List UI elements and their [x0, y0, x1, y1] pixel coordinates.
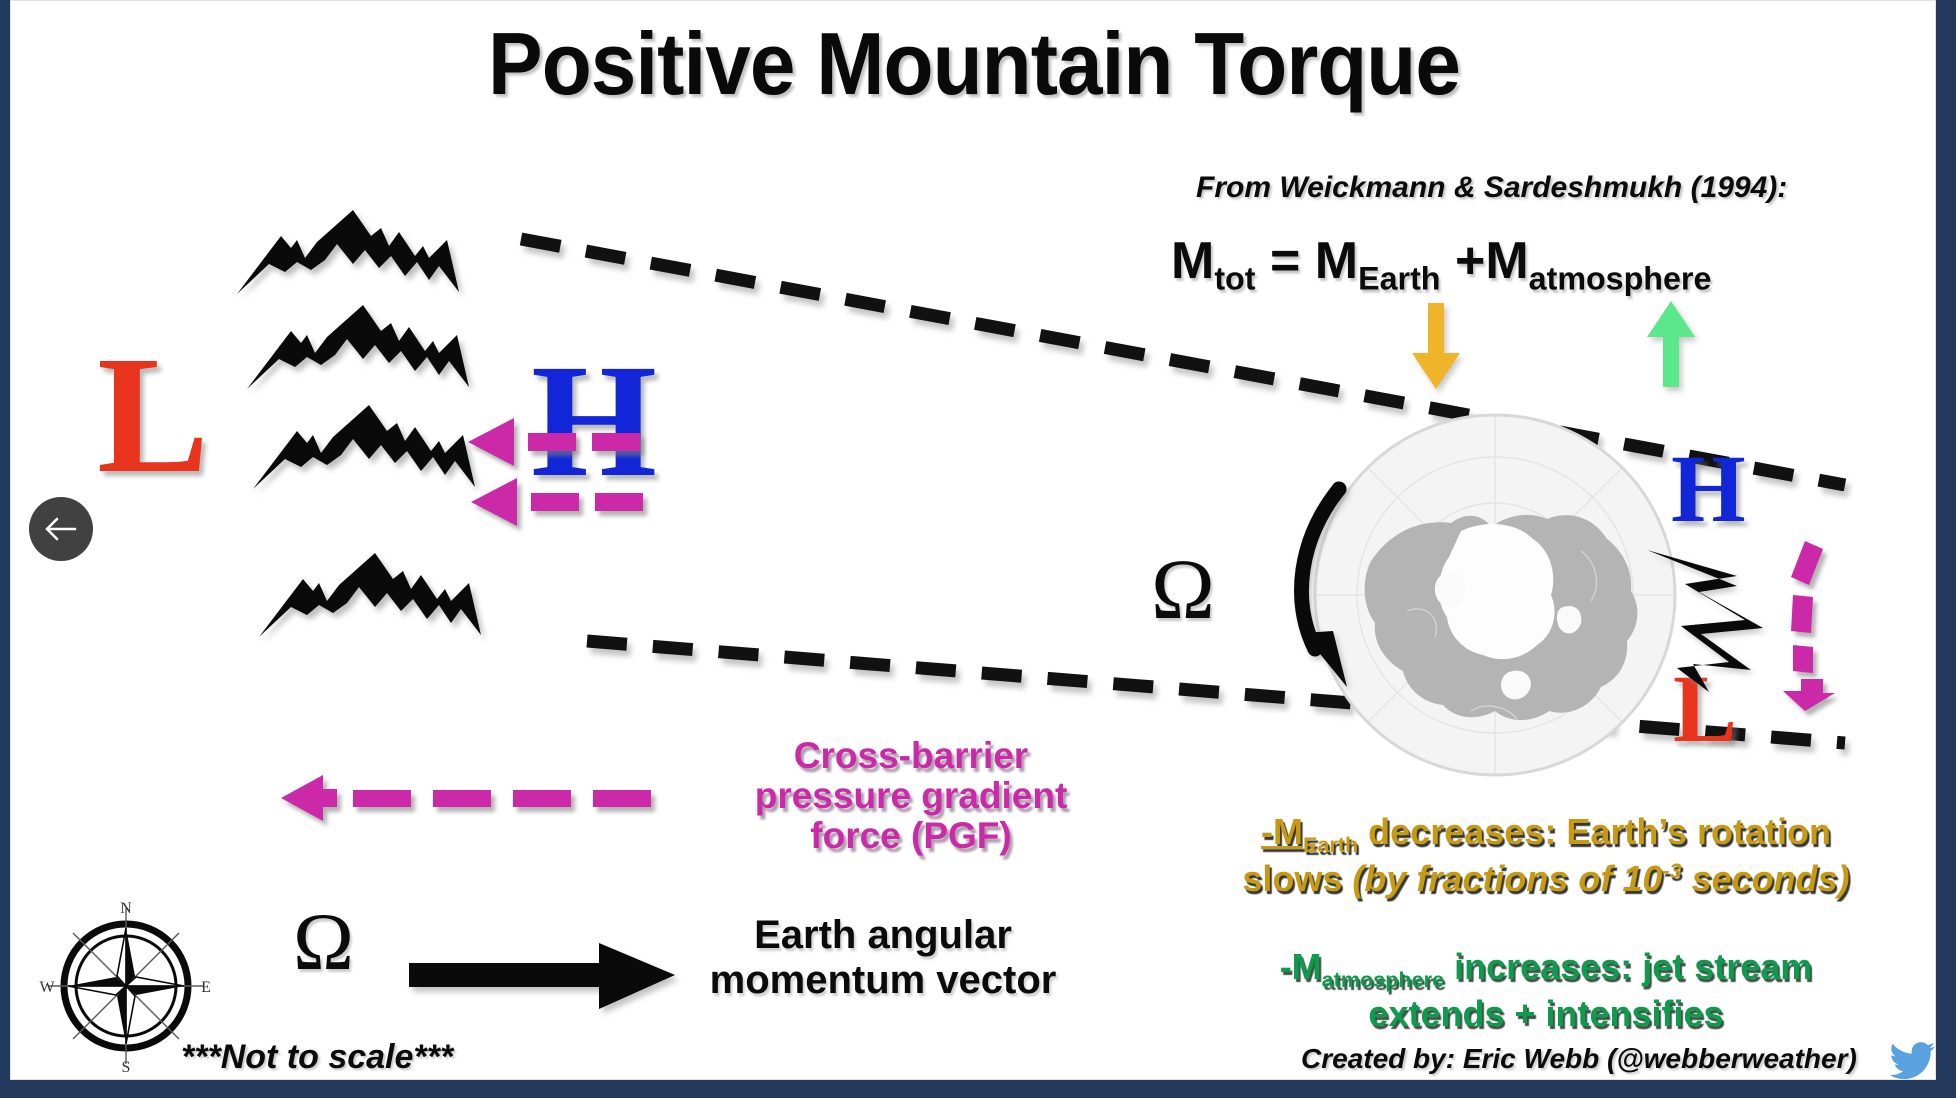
earth-note-exponent: -3 — [1662, 858, 1681, 883]
earth-note-term-sub: Earth — [1303, 832, 1358, 857]
pgf-arrow-small-lower — [469, 473, 649, 531]
atmos-note-line2: extends + intensifies — [1166, 993, 1926, 1034]
slide-canvas: Positive Mountain Torque L H H L — [10, 0, 1936, 1080]
atmos-note-line1: -Matmosphere increases: jet stream — [1166, 946, 1926, 993]
mountain-range-1 — [233, 206, 463, 296]
atmos-note-rest: increases: jet stream — [1444, 946, 1812, 987]
low-pressure-label-left: L — [97, 331, 209, 499]
not-to-scale-note: ***Not to scale*** — [181, 1038, 453, 1077]
atmosphere-momentum-note: -Matmosphere increases: jet stream exten… — [1166, 946, 1926, 1034]
mountain-range-3 — [249, 401, 479, 491]
arrow-down-earth-term — [1406, 301, 1466, 391]
angular-momentum-vector-arrow — [409, 939, 679, 1013]
citation-text: From Weickmann & Sardeshmukh (1994): — [1196, 171, 1787, 205]
page-title: Positive Mountain Torque — [78, 13, 1869, 115]
compass-label-north: N — [120, 900, 132, 917]
mountain-range-2 — [243, 301, 473, 391]
mountain-range-4 — [255, 549, 485, 639]
formula-mtot: M — [1171, 232, 1214, 290]
earth-note-paren-b: seconds) — [1682, 858, 1850, 899]
earth-note-slows: slows — [1242, 858, 1352, 899]
pgf-label: Cross-barrier pressure gradient force (P… — [701, 736, 1121, 856]
compass-label-west: W — [39, 979, 55, 996]
pgf-label-line1: Cross-barrier — [701, 736, 1121, 776]
formula-matmos: M — [1485, 232, 1528, 290]
angular-momentum-vector-label: Earth angular momentum vector — [683, 913, 1083, 1003]
omega-symbol-vector: Ω — [293, 901, 354, 983]
back-button[interactable] — [29, 497, 93, 561]
formula-plus: + — [1441, 232, 1486, 290]
formula-mearth: M — [1315, 232, 1358, 290]
earth-note-term: -M — [1261, 811, 1303, 852]
rotation-curved-arrow — [1281, 481, 1391, 696]
compass-label-east: E — [201, 979, 211, 996]
vector-label-line1: Earth angular — [683, 913, 1083, 958]
earth-note-paren-a: (by fractions of 10 — [1352, 858, 1662, 899]
formula-equals: = — [1256, 232, 1315, 290]
pgf-label-line3: force (PGF) — [701, 816, 1121, 856]
high-pressure-label-right: H — [1671, 441, 1746, 537]
earth-note-line2: slows (by fractions of 10-3 seconds) — [1166, 858, 1926, 899]
earth-note-rest: decreases: Earth’s rotation — [1358, 811, 1831, 852]
atmos-note-term-sub: atmosphere — [1322, 967, 1444, 992]
arrow-up-atmosphere-term — [1641, 299, 1701, 389]
vector-label-line2: momentum vector — [683, 958, 1083, 1003]
formula-matmos-sub: atmosphere — [1529, 260, 1712, 296]
screen: Positive Mountain Torque L H H L — [0, 0, 1956, 1098]
pgf-curved-arrow-right — [1771, 533, 1891, 713]
earth-note-line1: -MEarth decreases: Earth’s rotation — [1166, 811, 1926, 858]
omega-symbol-rotation: Ω — [1151, 546, 1215, 632]
pgf-arrow-small-upper — [466, 413, 646, 471]
credit-text: Created by: Eric Webb (@webberweather) — [1301, 1043, 1857, 1075]
twitter-bird-icon[interactable] — [1891, 1041, 1936, 1080]
momentum-formula: Mtot = MEarth +Matmosphere — [1171, 231, 1711, 297]
atmos-note-term: -M — [1280, 946, 1322, 987]
formula-mearth-sub: Earth — [1358, 260, 1440, 296]
pgf-arrow-large — [279, 769, 684, 827]
earth-momentum-note: -MEarth decreases: Earth’s rotation slow… — [1166, 811, 1926, 899]
compass-label-south: S — [122, 1059, 131, 1076]
pgf-label-line2: pressure gradient — [701, 776, 1121, 816]
formula-mtot-sub: tot — [1214, 260, 1255, 296]
arrow-left-icon — [44, 516, 78, 542]
